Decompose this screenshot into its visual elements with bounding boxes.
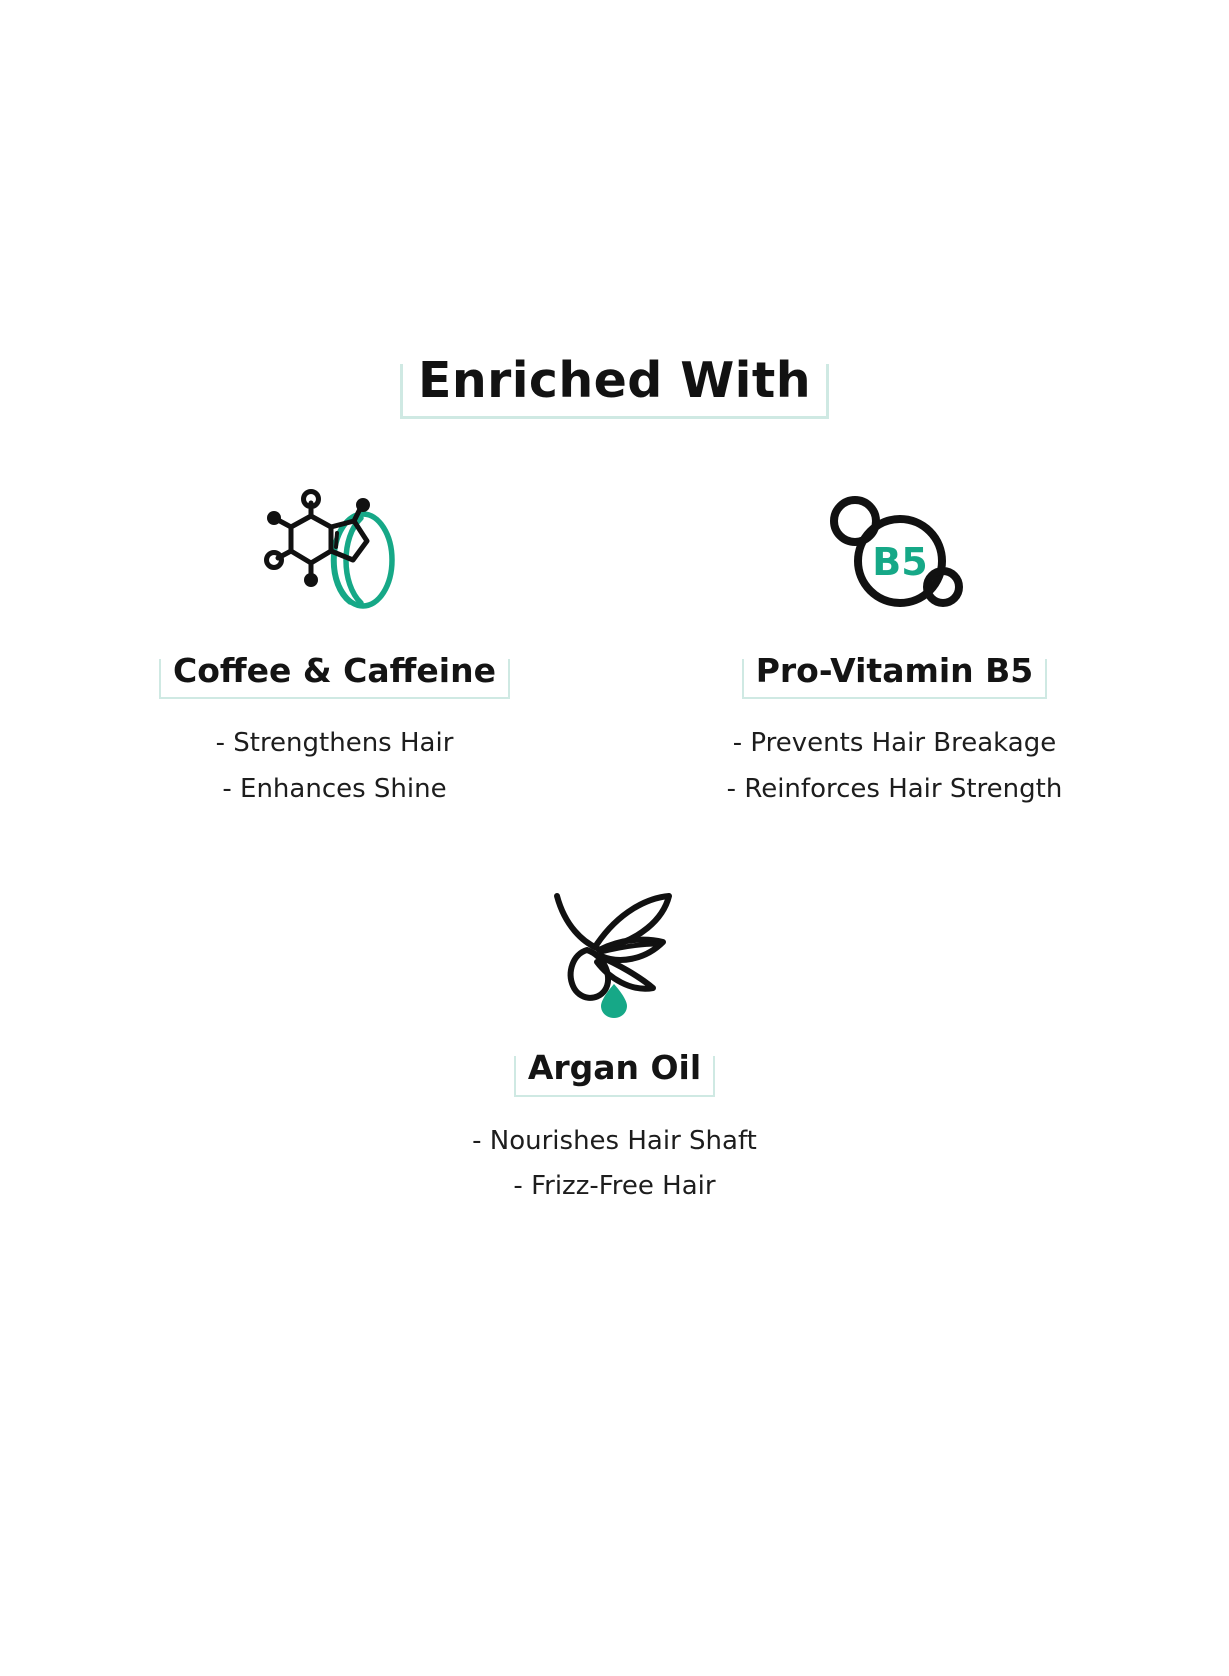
- ingredient-name: Argan Oil: [528, 1050, 701, 1086]
- ingredient-card-pro-vitamin-b5: B5 Pro-Vitamin B5 - Prevents Hair Breaka…: [615, 481, 1175, 828]
- benefit-item: - Enhances Shine: [216, 767, 454, 813]
- ingredient-heading-frame: Argan Oil: [514, 1048, 715, 1096]
- ingredient-grid: Coffee & Caffeine - Strengthens Hair - E…: [0, 481, 1229, 1226]
- section-title-frame: Enriched With: [400, 352, 829, 419]
- benefit-item: - Nourishes Hair Shaft: [472, 1119, 757, 1165]
- benefit-item: - Frizz-Free Hair: [472, 1164, 757, 1210]
- b5-label: B5: [872, 540, 927, 584]
- ingredient-card-argan-oil: Argan Oil - Nourishes Hair Shaft - Frizz…: [0, 878, 1229, 1225]
- ingredient-name: Pro-Vitamin B5: [756, 653, 1034, 689]
- benefit-item: - Strengthens Hair: [216, 721, 454, 767]
- heading-bracket-bottom: [528, 1095, 701, 1097]
- enriched-with-section: Enriched With: [0, 0, 1229, 1676]
- ingredient-heading-frame: Coffee & Caffeine: [159, 651, 510, 699]
- benefit-item: - Prevents Hair Breakage: [727, 721, 1063, 767]
- heading-bracket-bottom: [756, 697, 1034, 699]
- benefit-item: - Reinforces Hair Strength: [727, 767, 1063, 813]
- section-title: Enriched With: [418, 356, 811, 405]
- heading-bracket-right: [494, 659, 510, 699]
- ingredient-benefit-list: - Strengthens Hair - Enhances Shine: [216, 721, 454, 812]
- title-bracket-bottom: [418, 416, 811, 419]
- ingredient-name: Coffee & Caffeine: [173, 653, 496, 689]
- ingredient-benefit-list: - Nourishes Hair Shaft - Frizz-Free Hair: [472, 1119, 757, 1210]
- vitamin-b5-molecule-icon: B5: [805, 481, 985, 621]
- ingredient-card-coffee-caffeine: Coffee & Caffeine - Strengthens Hair - E…: [55, 481, 615, 828]
- ingredient-benefit-list: - Prevents Hair Breakage - Reinforces Ha…: [727, 721, 1063, 812]
- heading-bracket-right: [699, 1056, 715, 1096]
- argan-fruit-leaf-droplet-icon: [535, 878, 695, 1018]
- heading-bracket-right: [1031, 659, 1047, 699]
- heading-bracket-bottom: [173, 697, 496, 699]
- caffeine-molecule-coffee-bean-icon: [245, 481, 425, 621]
- ingredient-heading-frame: Pro-Vitamin B5: [742, 651, 1048, 699]
